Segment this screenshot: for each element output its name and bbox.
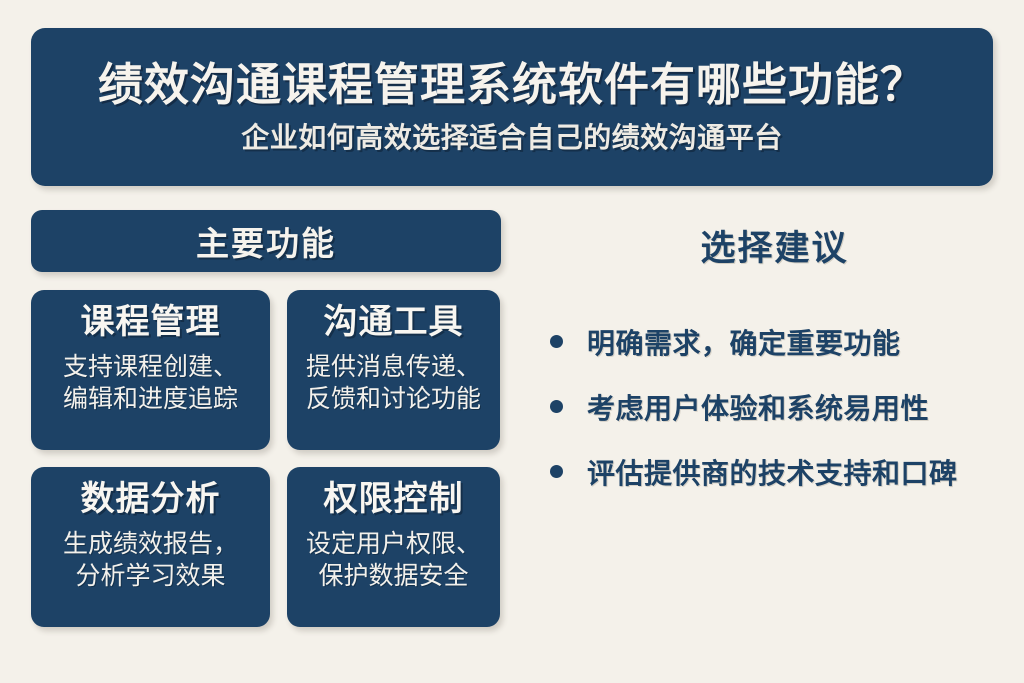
feature-card-communication-tools: 沟通工具 提供消息传递、 反馈和讨论功能 (287, 290, 500, 450)
feature-card-description-line: 编辑和进度追踪 (63, 383, 238, 415)
feature-card-title: 权限控制 (324, 481, 464, 518)
feature-card-description: 设定用户权限、 保护数据安全 (306, 528, 481, 592)
feature-card-description-line: 设定用户权限、 (306, 528, 481, 560)
list-item: 考虑用户体验和系统易用性 (519, 374, 1024, 439)
list-item-label: 明确需求，确定重要功能 (587, 322, 901, 362)
selection-advice-heading: 选择建议 (519, 210, 1024, 271)
feature-card-permission-control: 权限控制 设定用户权限、 保护数据安全 (287, 467, 500, 627)
page-title: 绩效沟通课程管理系统软件有哪些功能？ (98, 60, 926, 110)
feature-card-description: 提供消息传递、 反馈和讨论功能 (306, 351, 481, 415)
list-item-label: 评估提供商的技术支持和口碑 (587, 452, 958, 492)
feature-card-description-line: 保护数据安全 (306, 560, 481, 592)
feature-card-description-line: 生成绩效报告， (63, 528, 238, 560)
feature-card-data-analysis: 数据分析 生成绩效报告， 分析学习效果 (31, 467, 270, 627)
selection-advice-list: 明确需求，确定重要功能 考虑用户体验和系统易用性 评估提供商的技术支持和口碑 (519, 309, 1024, 504)
bullet-dot-icon (550, 400, 563, 413)
infographic-poster: 绩效沟通课程管理系统软件有哪些功能？ 企业如何高效选择适合自己的绩效沟通平台 主… (0, 0, 1024, 683)
list-item-label: 考虑用户体验和系统易用性 (587, 387, 929, 427)
section-header-label: 主要功能 (196, 217, 336, 265)
feature-card-description: 支持课程创建、 编辑和进度追踪 (63, 351, 238, 415)
feature-card-course-management: 课程管理 支持课程创建、 编辑和进度追踪 (31, 290, 270, 450)
bullet-dot-icon (550, 465, 563, 478)
feature-card-grid: 课程管理 支持课程创建、 编辑和进度追踪 沟通工具 提供消息传递、 反馈和讨论功… (31, 290, 501, 627)
feature-card-title: 课程管理 (81, 304, 221, 341)
list-item: 评估提供商的技术支持和口碑 (519, 439, 1024, 504)
feature-card-description-line: 反馈和讨论功能 (306, 383, 481, 415)
feature-card-description-line: 分析学习效果 (63, 560, 238, 592)
page-subtitle: 企业如何高效选择适合自己的绩效沟通平台 (241, 122, 783, 154)
bullet-dot-icon (550, 335, 563, 348)
section-header-main-features: 主要功能 (31, 210, 501, 272)
feature-card-description-line: 提供消息传递、 (306, 351, 481, 383)
feature-card-description: 生成绩效报告， 分析学习效果 (63, 528, 238, 592)
feature-card-title: 数据分析 (81, 481, 221, 518)
list-item: 明确需求，确定重要功能 (519, 309, 1024, 374)
feature-card-title: 沟通工具 (324, 304, 464, 341)
selection-advice-column: 选择建议 明确需求，确定重要功能 考虑用户体验和系统易用性 评估提供商的技术支持… (519, 210, 1024, 504)
feature-card-description-line: 支持课程创建、 (63, 351, 238, 383)
header-banner: 绩效沟通课程管理系统软件有哪些功能？ 企业如何高效选择适合自己的绩效沟通平台 (31, 28, 993, 186)
main-features-column: 主要功能 课程管理 支持课程创建、 编辑和进度追踪 沟通工具 提供消息传递、 反… (31, 210, 501, 627)
